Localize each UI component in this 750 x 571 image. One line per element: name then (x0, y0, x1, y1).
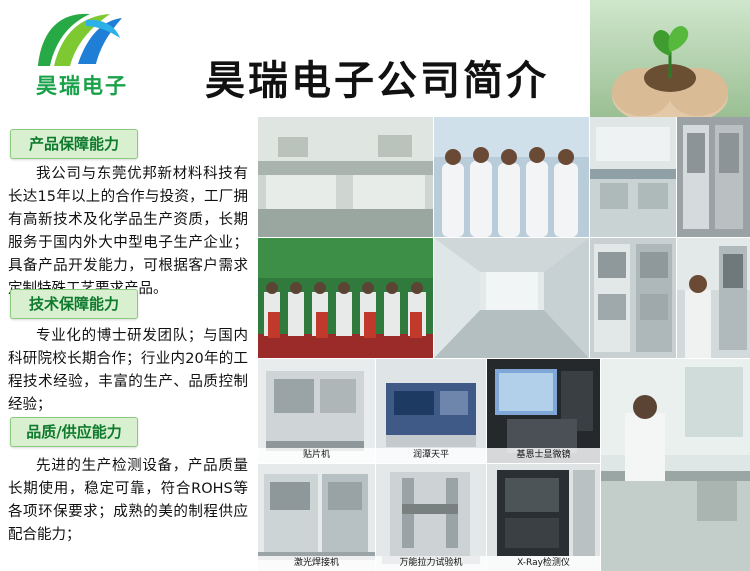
photo-caption: 贴片机 (258, 448, 375, 463)
section-body-product-capability: 我公司与东莞优邦新材料科技有长达15年以上的合作与投资，工厂拥有高新技术及化学品… (8, 163, 248, 301)
company-logo: 昊瑞电子 (14, 8, 144, 108)
laboratory-benches-photo (590, 117, 676, 237)
photo-grid: 贴片机 润潭天平 基恩士显微镜 (258, 117, 750, 571)
page-title: 昊瑞电子公司简介 (205, 48, 549, 106)
text-column: 产品保障能力 我公司与东莞优邦新材料科技有长达15年以上的合作与投资，工厂拥有高… (0, 117, 258, 571)
section-body-technology-capability: 专业化的博士研发团队；与国内科研院校长期合作；行业内20年的工程技术经验，丰富的… (8, 325, 248, 417)
photo-caption: 万能拉力试验机 (376, 556, 486, 571)
clean-corridor-photo (434, 238, 589, 358)
universal-tensile-tester-photo: 万能拉力试验机 (376, 464, 486, 571)
hands-holding-seedling-photo (590, 0, 750, 117)
laser-welding-machine-photo: 激光焊接机 (258, 464, 375, 571)
company-profile-page: 昊瑞电子 昊瑞电子公司简介 产品保障能力 (0, 0, 750, 571)
office-workstations-photo (258, 117, 433, 237)
engineer-with-instrument-photo (677, 238, 750, 358)
section-heading-technology-capability: 技术保障能力 (10, 289, 138, 319)
page-header: 昊瑞电子 昊瑞电子公司简介 (0, 0, 750, 117)
lab-bench-worker-photo (601, 359, 750, 571)
photo-caption: 激光焊接机 (258, 556, 375, 571)
equipment-racks-photo (590, 238, 676, 358)
photo-caption: 基恩士显微镜 (487, 448, 600, 463)
section-body-product-capability-text: 我公司与东莞优邦新材料科技有长达15年以上的合作与投资，工厂拥有高新技术及化学品… (8, 163, 248, 301)
lab-team-white-coats-photo (434, 117, 589, 237)
company-leaf-logo-icon (32, 8, 124, 70)
precision-balance-photo: 润潭天平 (376, 359, 486, 463)
xray-inspection-machine-photo: X-Ray检测仪 (487, 464, 600, 571)
chip-mounter-photo: 贴片机 (258, 359, 375, 463)
section-heading-quality-supply-capability: 品质/供应能力 (10, 417, 138, 447)
section-body-quality-supply-capability-text: 先进的生产检测设备，产品质量长期使用，稳定可靠，符合ROHS等各项环保要求；成熟… (8, 455, 248, 547)
section-heading-product-capability: 产品保障能力 (10, 129, 138, 159)
microscope-photo: 基恩士显微镜 (487, 359, 600, 463)
section-body-quality-supply-capability: 先进的生产检测设备，产品质量长期使用，稳定可靠，符合ROHS等各项环保要求；成熟… (8, 455, 248, 547)
company-group-photo (258, 238, 433, 358)
testing-chamber-room-photo (677, 117, 750, 237)
company-logo-text: 昊瑞电子 (22, 70, 142, 100)
photo-caption: X-Ray检测仪 (487, 556, 600, 571)
section-body-technology-capability-text: 专业化的博士研发团队；与国内科研院校长期合作；行业内20年的工程技术经验，丰富的… (8, 325, 248, 417)
photo-caption: 润潭天平 (376, 448, 486, 463)
